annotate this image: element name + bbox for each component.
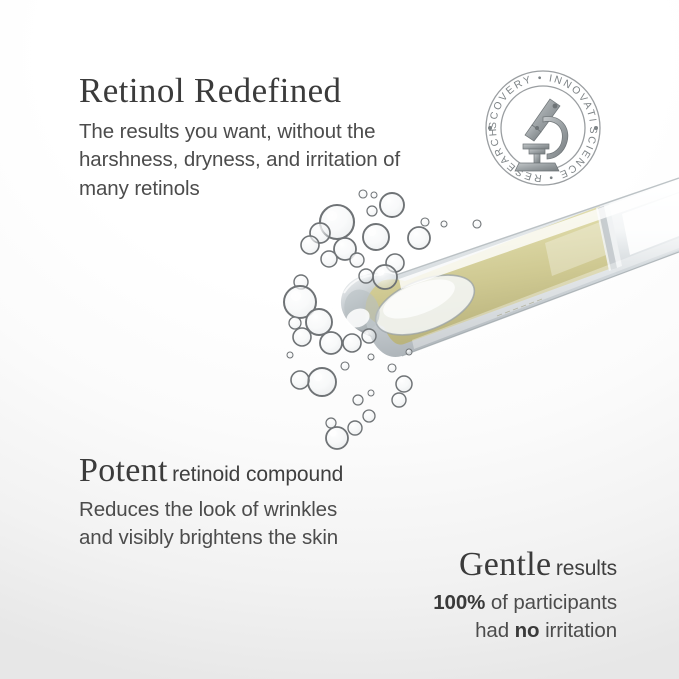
claim-potent-word: Potent <box>79 452 168 489</box>
claim-gentle-irritation-line: had no irritation <box>402 617 617 645</box>
headline: Retinol Redefined <box>79 72 341 109</box>
bubble-cluster <box>284 190 481 449</box>
claim-gentle-body-suffix: irritation <box>539 619 617 642</box>
claim-potent: Potent retinoid compound Reduces the loo… <box>79 452 343 551</box>
claim-gentle: Gentle results 100% of participants had … <box>402 546 617 644</box>
claim-potent-heading: Potent retinoid compound <box>79 452 343 490</box>
claim-gentle-stat-line: 100% of participants <box>402 589 617 617</box>
product-feature-banner: Retinol Redefined The results you want, … <box>0 0 679 679</box>
research-seal-badge: DISCOVERY • INNOVATION SCIENCE • RESEARC… <box>477 62 609 194</box>
claim-potent-body-line2: and visibly brightens the skin <box>79 524 343 552</box>
subcopy: The results you want, without the harshn… <box>79 118 439 203</box>
claim-gentle-body-emphasis: no <box>515 619 540 642</box>
microscope-icon <box>515 99 568 171</box>
claim-gentle-word: Gentle <box>459 546 551 583</box>
claim-potent-tail: retinoid compound <box>172 463 343 486</box>
claim-gentle-body-prefix: had <box>475 619 515 642</box>
claim-gentle-heading: Gentle results <box>402 546 617 584</box>
claim-gentle-stat-rest: of participants <box>485 591 617 614</box>
pipette-barrel <box>338 178 679 357</box>
claim-potent-body-line1: Reduces the look of wrinkles <box>79 496 343 524</box>
claim-gentle-body: 100% of participants had no irritation <box>402 589 617 644</box>
svg-text:SCIENCE • RESEARCH: SCIENCE • RESEARCH <box>488 126 598 183</box>
claim-gentle-tail: results <box>556 557 617 580</box>
claim-potent-body: Reduces the look of wrinkles and visibly… <box>79 496 343 551</box>
claim-gentle-stat: 100% <box>433 591 485 614</box>
bubble-highlights <box>291 211 385 437</box>
